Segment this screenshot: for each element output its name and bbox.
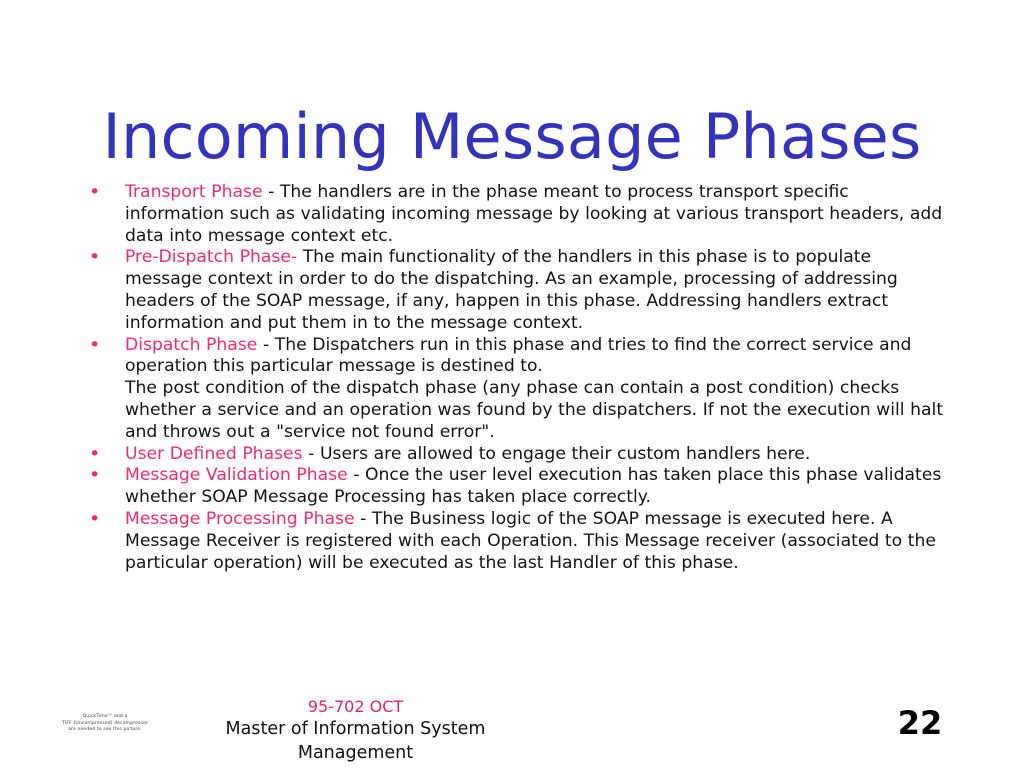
bullet-item: •Pre-Dispatch Phase- The main functional… — [85, 247, 945, 334]
phase-description: The post condition of the dispatch phase… — [125, 378, 943, 442]
bullet-dot-icon: • — [89, 182, 103, 204]
phase-separator: - — [303, 444, 320, 464]
paragraph-item: The post condition of the dispatch phase… — [85, 378, 945, 443]
page-title: Incoming Message Phases — [0, 100, 1024, 174]
bullet-item: •Message Processing Phase - The Business… — [85, 509, 945, 574]
bullet-dot-icon: • — [89, 247, 103, 269]
bullet-text: User Defined Phases - Users are allowed … — [125, 444, 945, 466]
footer: 95-702 OCT Master of Information System … — [193, 696, 518, 765]
phase-separator: - — [348, 465, 365, 485]
page-number: 22 — [884, 704, 956, 742]
bullet-dot-icon: • — [89, 335, 103, 357]
phase-name-label: Transport Phase — [125, 182, 263, 202]
phase-name-label: User Defined Phases — [125, 444, 303, 464]
quicktime-placeholder-line-3: are needed to see this picture. — [46, 727, 164, 734]
phase-separator: - — [257, 335, 274, 355]
phase-name-label: Dispatch Phase — [125, 335, 257, 355]
bullet-dot-icon: • — [89, 465, 103, 487]
quicktime-placeholder-image: QuickTime™ and a TIFF (Uncompressed) dec… — [46, 714, 164, 734]
bullet-text: Dispatch Phase - The Dispatchers run in … — [125, 335, 945, 379]
bullet-dot-icon: • — [89, 444, 103, 466]
footer-course-code: 95-702 OCT — [193, 696, 518, 717]
bullet-item: •Dispatch Phase - The Dispatchers run in… — [85, 335, 945, 379]
bullet-item: •User Defined Phases - Users are allowed… — [85, 444, 945, 466]
phase-name-label: Message Validation Phase — [125, 465, 348, 485]
phase-separator: - — [263, 182, 280, 202]
bullet-item: •Transport Phase - The handlers are in t… — [85, 182, 945, 247]
bullet-list: •Transport Phase - The handlers are in t… — [85, 182, 945, 574]
footer-program-line-2: Management — [193, 741, 518, 765]
bullet-dot-icon: • — [89, 509, 103, 531]
phase-name-label: Pre-Dispatch Phase- — [125, 247, 297, 267]
bullet-text: Pre-Dispatch Phase- The main functionali… — [125, 247, 945, 334]
phase-name-label: Message Processing Phase — [125, 509, 355, 529]
bullet-item: •Message Validation Phase - Once the use… — [85, 465, 945, 509]
bullet-text: The post condition of the dispatch phase… — [125, 378, 945, 443]
phase-description: Users are allowed to engage their custom… — [320, 444, 810, 464]
quicktime-placeholder-line-1: QuickTime™ and a — [46, 714, 164, 721]
footer-program-line-1: Master of Information System — [193, 717, 518, 741]
slide-canvas: Incoming Message Phases •Transport Phase… — [0, 0, 1024, 768]
bullet-text: Message Validation Phase - Once the user… — [125, 465, 945, 509]
bullet-text: Transport Phase - The handlers are in th… — [125, 182, 945, 247]
phase-separator: - — [355, 509, 372, 529]
bullet-text: Message Processing Phase - The Business … — [125, 509, 945, 574]
